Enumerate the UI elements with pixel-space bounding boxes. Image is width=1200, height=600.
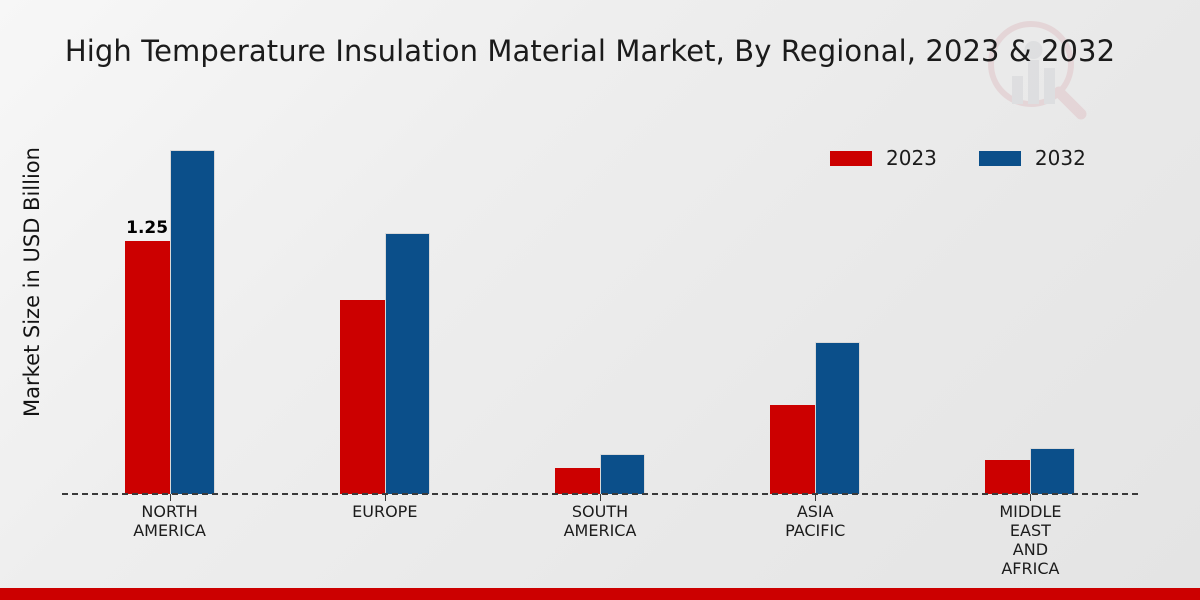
x-axis-tick xyxy=(1030,494,1031,501)
page-title: High Temperature Insulation Material Mar… xyxy=(0,34,1180,68)
bar-groups: 1.25NORTH AMERICAEUROPESOUTH AMERICAASIA… xyxy=(62,120,1138,494)
bar-2023[interactable] xyxy=(555,468,600,494)
bar-2023[interactable] xyxy=(985,460,1030,494)
bar-2023[interactable] xyxy=(770,405,815,494)
category-label: ASIA PACIFIC xyxy=(740,502,890,540)
bar-2032[interactable] xyxy=(815,342,860,494)
chart-canvas: High Temperature Insulation Material Mar… xyxy=(0,0,1200,600)
bar-pair xyxy=(555,120,645,494)
bar-pair xyxy=(340,120,430,494)
plot-area: 1.25NORTH AMERICAEUROPESOUTH AMERICAASIA… xyxy=(62,120,1138,495)
bar-group: MIDDLE EAST AND AFRICA xyxy=(923,120,1138,494)
bar-pair: 1.25 xyxy=(125,120,215,494)
category-label: EUROPE xyxy=(310,502,460,521)
category-label: NORTH AMERICA xyxy=(95,502,245,540)
bar-2032[interactable] xyxy=(170,150,215,494)
bar-pair xyxy=(770,120,860,494)
bar-group: 1.25NORTH AMERICA xyxy=(62,120,277,494)
bar-pair xyxy=(985,120,1075,494)
bar-2023[interactable]: 1.25 xyxy=(125,241,170,494)
bar-group: EUROPE xyxy=(277,120,492,494)
bar-2023[interactable] xyxy=(340,300,385,494)
footer-band xyxy=(0,588,1200,600)
category-label: MIDDLE EAST AND AFRICA xyxy=(955,502,1105,578)
y-axis-label: Market Size in USD Billion xyxy=(20,102,44,462)
bar-2032[interactable] xyxy=(1030,448,1075,494)
x-axis-tick xyxy=(600,494,601,501)
category-label: SOUTH AMERICA xyxy=(525,502,675,540)
bar-2032[interactable] xyxy=(385,233,430,494)
x-axis-tick xyxy=(815,494,816,501)
bar-group: ASIA PACIFIC xyxy=(708,120,923,494)
bar-2032[interactable] xyxy=(600,454,645,494)
x-axis-tick xyxy=(385,494,386,501)
bar-value-label: 1.25 xyxy=(126,218,168,238)
bar-group: SOUTH AMERICA xyxy=(492,120,707,494)
x-axis-baseline xyxy=(62,493,1138,495)
x-axis-tick xyxy=(170,494,171,501)
